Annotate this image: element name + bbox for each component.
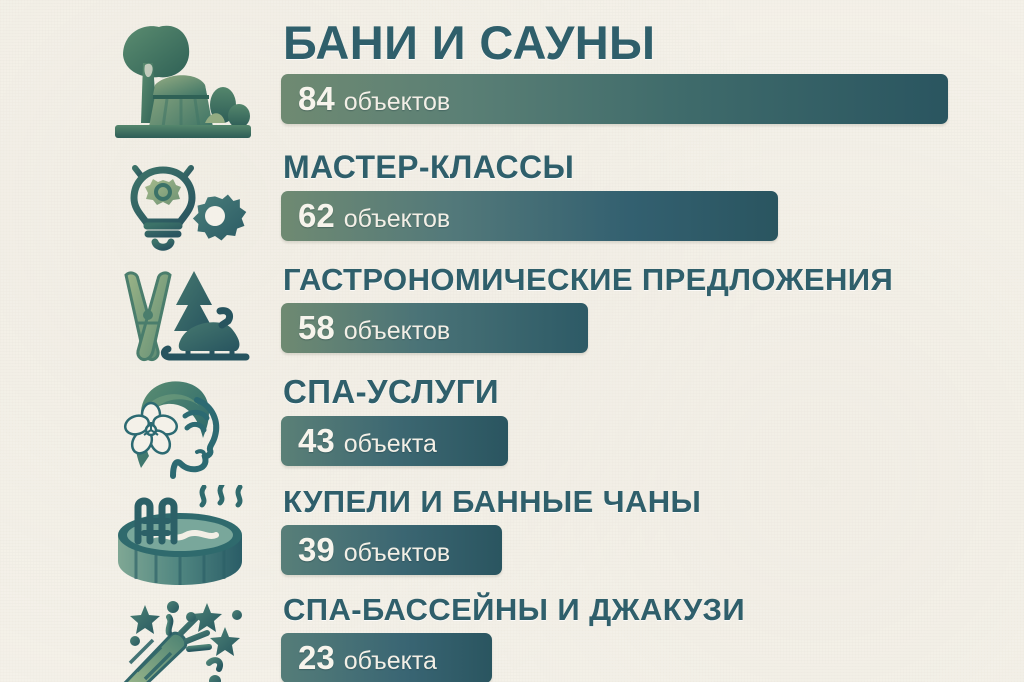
chart-bar: 23 объекта bbox=[281, 633, 492, 682]
chart-bar-value: 23 bbox=[298, 639, 335, 677]
chart-bar: 62 объектов bbox=[281, 191, 778, 241]
chart-row-text: СПА-УСЛУГИ 43 объекта bbox=[281, 370, 1024, 466]
chart-bar-value: 58 bbox=[298, 309, 335, 347]
chart-row-title: СПА-УСЛУГИ bbox=[283, 372, 1024, 411]
chart-bar: 58 объектов bbox=[281, 303, 588, 353]
chart-row-text: СПА-БАССЕЙНЫ И ДЖАКУЗИ 23 объекта bbox=[281, 588, 1024, 682]
chart-bar-value: 84 bbox=[298, 80, 335, 118]
chart-bar-unit: объекта bbox=[344, 647, 437, 676]
party-popper-icon bbox=[96, 594, 266, 682]
chart-bar: 84 объектов bbox=[281, 74, 948, 124]
chart-bar-label: 43 объекта bbox=[281, 422, 437, 460]
chart-bar-label: 58 объектов bbox=[281, 309, 450, 347]
chart-row-text: ГАСТРОНОМИЧЕСКИЕ ПРЕДЛОЖЕНИЯ 58 объектов bbox=[281, 258, 1024, 353]
chart-row-title: БАНИ И САУНЫ bbox=[283, 16, 1024, 70]
infographic-bar-chart: БАНИ И САУНЫ 84 объектов bbox=[0, 0, 1024, 682]
chart-row-text: КУПЕЛИ И БАННЫЕ ЧАНЫ 39 объектов bbox=[281, 480, 1024, 575]
chart-bar-label: 23 объекта bbox=[281, 639, 437, 677]
chart-row-text: МАСТЕР-КЛАССЫ 62 объектов bbox=[281, 146, 1024, 241]
chart-bar-label: 84 объектов bbox=[281, 80, 450, 118]
chart-row-title: КУПЕЛИ И БАННЫЕ ЧАНЫ bbox=[283, 483, 1024, 520]
chart-bar-value: 39 bbox=[298, 531, 335, 569]
sauna-hut-icon bbox=[96, 16, 266, 146]
chart-bar-unit: объектов bbox=[344, 539, 451, 568]
chart-rows: БАНИ И САУНЫ 84 объектов bbox=[0, 0, 1024, 682]
sauna-hut-icon-svg bbox=[105, 19, 257, 143]
chart-row-title: СПА-БАССЕЙНЫ И ДЖАКУЗИ bbox=[283, 591, 1024, 628]
chart-bar-value: 43 bbox=[298, 422, 335, 460]
chart-bar-unit: объекта bbox=[344, 430, 437, 459]
party-popper-icon-svg bbox=[111, 595, 251, 682]
chart-row-text: БАНИ И САУНЫ 84 объектов bbox=[281, 8, 1024, 124]
chart-bar-unit: объектов bbox=[344, 317, 451, 346]
chart-bar: 43 объекта bbox=[281, 416, 508, 466]
chart-bar: 39 объектов bbox=[281, 525, 502, 575]
woman-flower-profile-icon-svg bbox=[111, 372, 251, 480]
chart-row-title: МАСТЕР-КЛАССЫ bbox=[283, 148, 1024, 186]
hot-tub-icon bbox=[96, 484, 266, 588]
chart-bar-value: 62 bbox=[298, 197, 335, 235]
chart-bar-unit: объектов bbox=[344, 205, 451, 234]
skis-sled-icon-svg bbox=[108, 263, 254, 369]
chart-bar-label: 39 объектов bbox=[281, 531, 450, 569]
lightbulb-gear-icon bbox=[96, 152, 266, 258]
chart-row-title: ГАСТРОНОМИЧЕСКИЕ ПРЕДЛОЖЕНИЯ bbox=[283, 261, 1024, 298]
chart-bar-label: 62 объектов bbox=[281, 197, 450, 235]
skis-sled-icon bbox=[96, 262, 266, 370]
lightbulb-gear-icon-svg bbox=[111, 152, 251, 258]
hot-tub-icon-svg bbox=[106, 485, 256, 587]
woman-flower-profile-icon bbox=[96, 372, 266, 480]
chart-bar-unit: объектов bbox=[344, 88, 451, 117]
